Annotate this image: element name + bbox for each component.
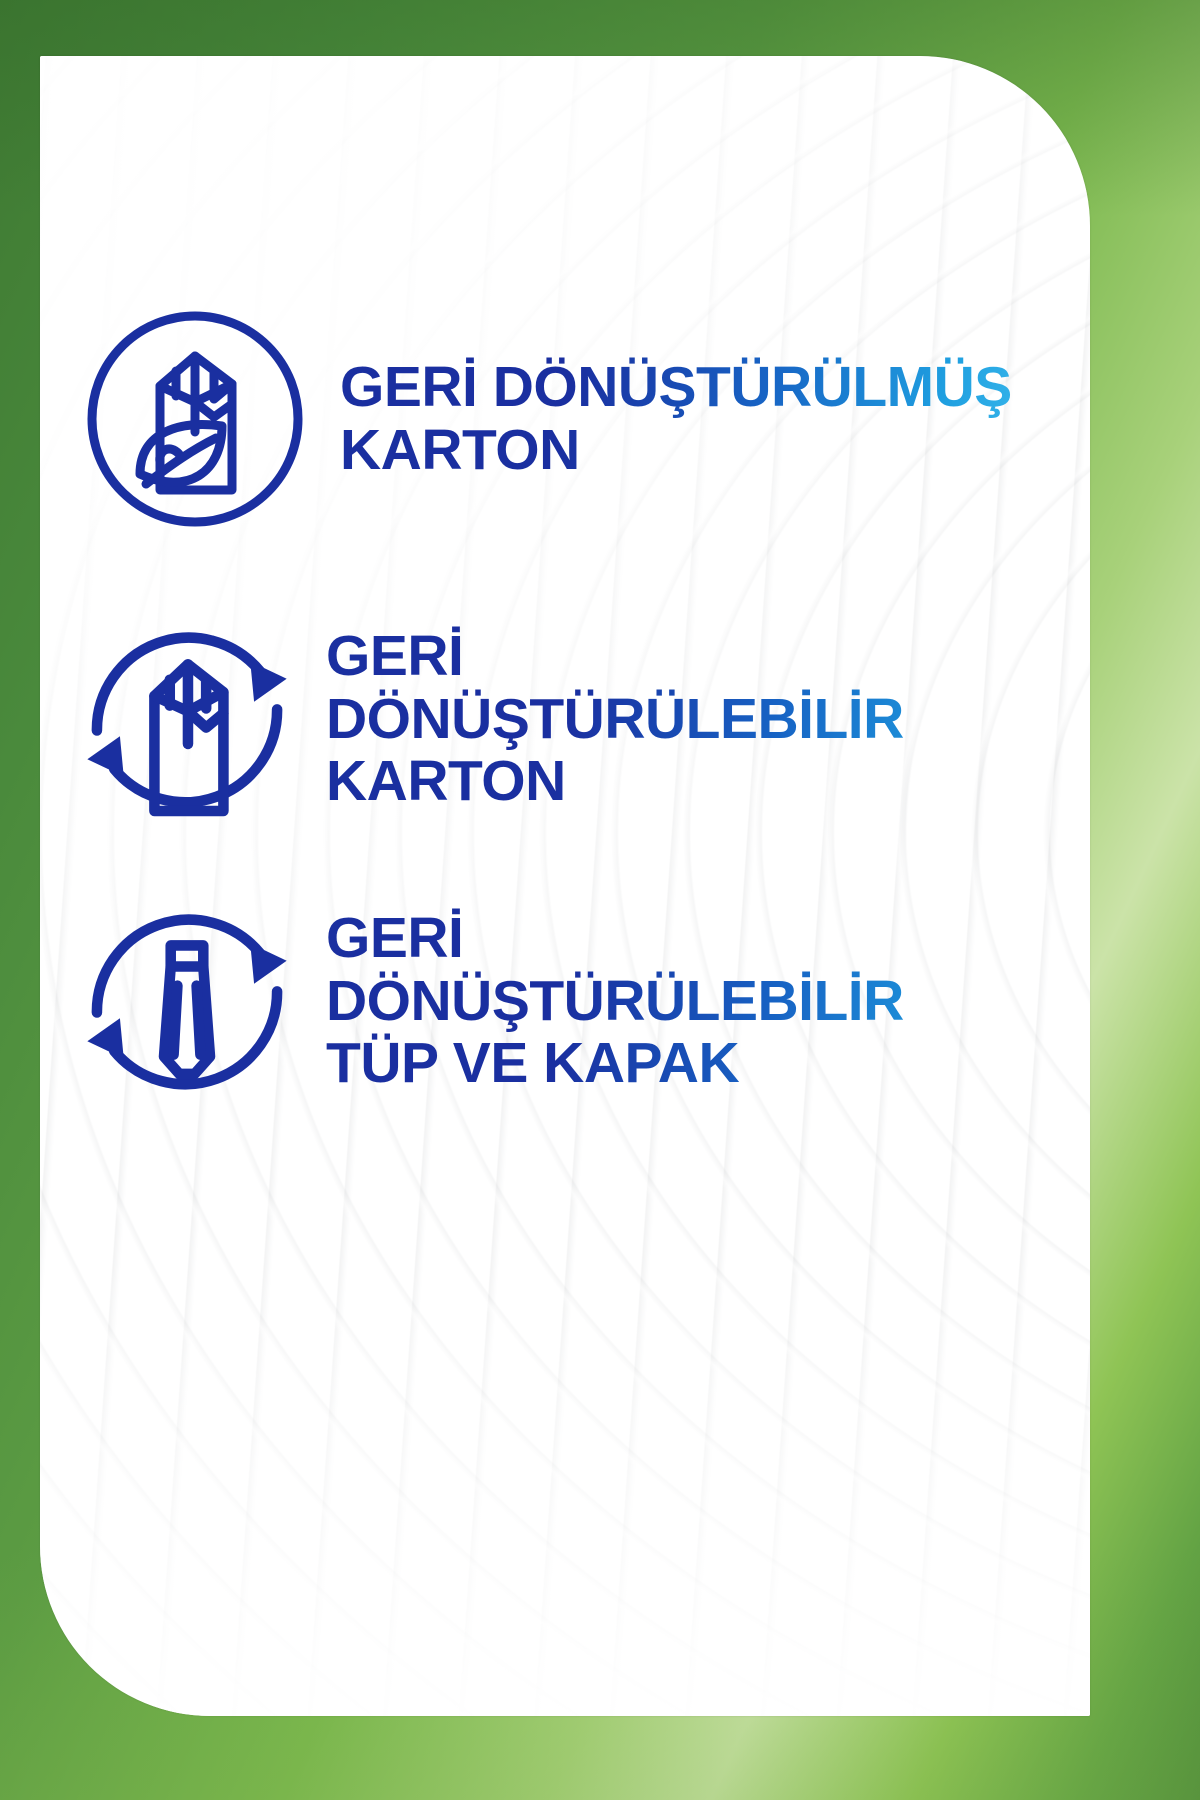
claim-label-recyclable-carton: GERİ DÖNÜŞTÜRÜLEBİLİR KARTON <box>326 625 1046 813</box>
claim-label-recycled-carton: GERİ DÖNÜŞTÜRÜLMÜŞ KARTON <box>340 356 1012 481</box>
claim-label-recyclable-tube-cap: GERİ DÖNÜŞTÜRÜLEBİLİR TÜP VE KAPAK <box>326 907 1046 1095</box>
claim-row-recyclable-carton: GERİ DÖNÜŞTÜRÜLEBİLİR KARTON <box>72 604 1046 834</box>
recyclable-carton-icon <box>72 604 302 834</box>
claim-row-recycled-carton: GERİ DÖNÜŞTÜRÜLMÜŞ KARTON <box>80 304 1012 534</box>
recycled-carton-icon <box>80 304 310 534</box>
white-info-card: GERİ DÖNÜŞTÜRÜLMÜŞ KARTON <box>40 56 1090 1716</box>
claim-row-recyclable-tube-cap: GERİ DÖNÜŞTÜRÜLEBİLİR TÜP VE KAPAK <box>72 886 1046 1116</box>
claims-list: GERİ DÖNÜŞTÜRÜLMÜŞ KARTON <box>40 56 1090 1716</box>
recyclable-tube-cap-icon <box>72 886 302 1116</box>
